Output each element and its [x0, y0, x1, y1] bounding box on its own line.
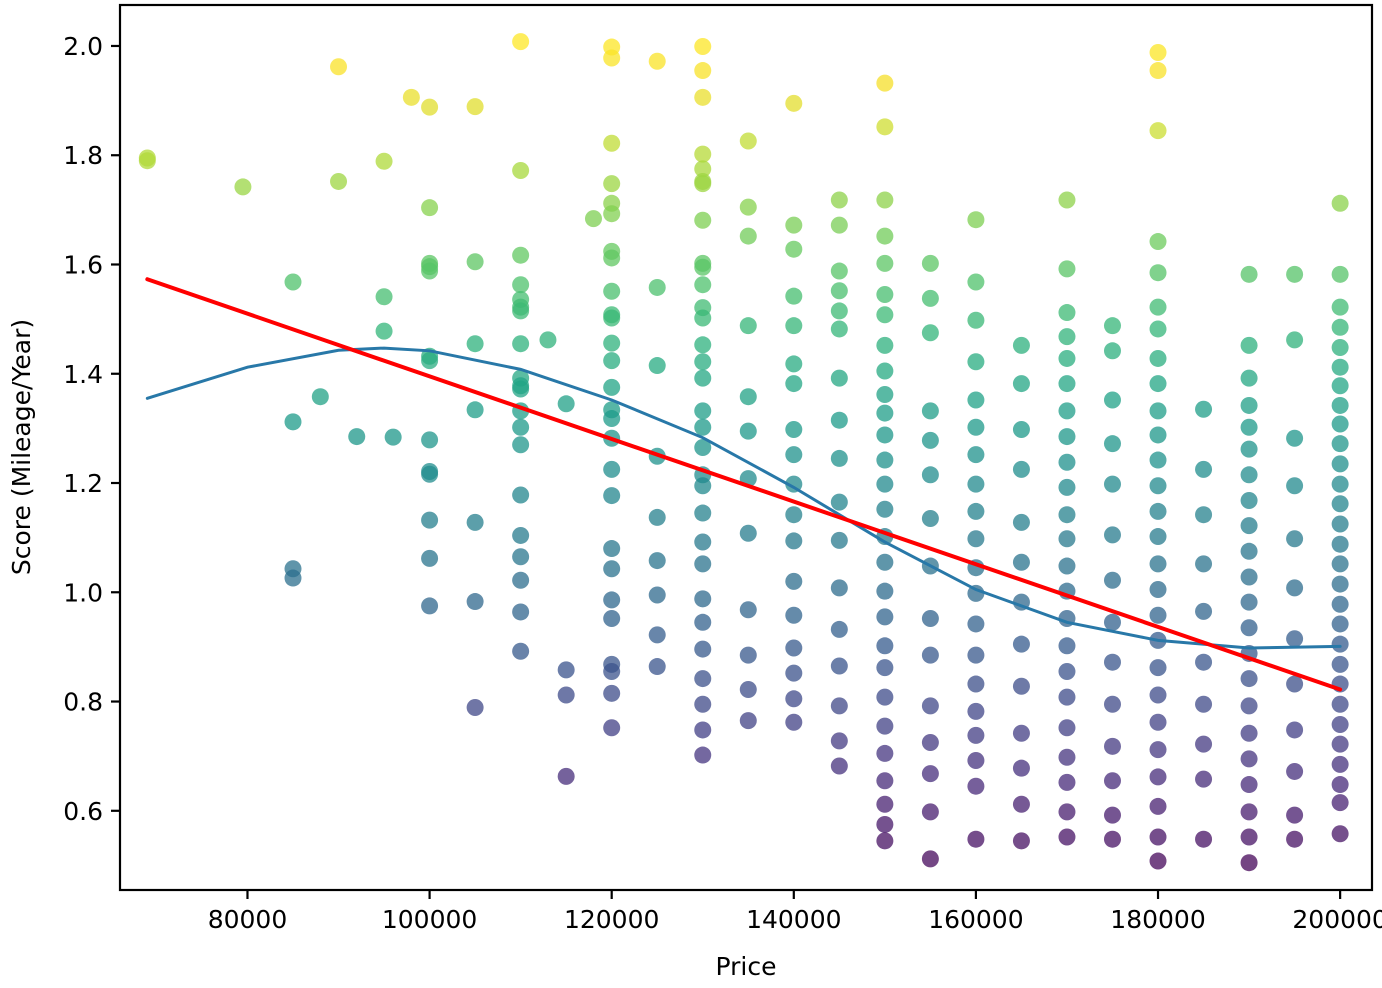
scatter-point	[649, 552, 666, 569]
scatter-point	[740, 681, 757, 698]
scatter-point	[1241, 568, 1258, 585]
scatter-point	[1286, 579, 1303, 596]
scatter-point	[1195, 461, 1212, 478]
y-tick-label: 0.6	[63, 797, 103, 826]
scatter-point	[649, 279, 666, 296]
scatter-point	[1332, 756, 1349, 773]
scatter-point	[1150, 44, 1167, 61]
scatter-point	[1241, 517, 1258, 534]
scatter-point	[603, 379, 620, 396]
scatter-point	[694, 175, 711, 192]
scatter-point	[603, 310, 620, 327]
scatter-point	[922, 324, 939, 341]
scatter-point	[876, 405, 893, 422]
scatter-point	[1241, 266, 1258, 283]
y-tick-label: 0.8	[63, 688, 103, 717]
scatter-point	[740, 423, 757, 440]
scatter-point	[1013, 554, 1030, 571]
scatter-point	[1104, 435, 1121, 452]
scatter-point	[1332, 515, 1349, 532]
y-tick-label: 2.0	[63, 32, 103, 61]
scatter-point	[831, 282, 848, 299]
scatter-point	[1241, 441, 1258, 458]
scatter-point	[831, 263, 848, 280]
scatter-point	[649, 658, 666, 675]
scatter-point	[694, 696, 711, 713]
scatter-point	[694, 534, 711, 551]
scatter-point	[1332, 377, 1349, 394]
scatter-point	[512, 247, 529, 264]
scatter-point	[1150, 375, 1167, 392]
scatter-point	[603, 461, 620, 478]
scatter-point	[1058, 350, 1075, 367]
scatter-point	[1286, 676, 1303, 693]
scatter-point	[876, 796, 893, 813]
scatter-point	[1150, 264, 1167, 281]
scatter-point	[831, 757, 848, 774]
scatter-point	[876, 192, 893, 209]
scatter-point	[603, 352, 620, 369]
scatter-point	[512, 548, 529, 565]
scatter-point	[785, 506, 802, 523]
scatter-point	[649, 53, 666, 70]
scatter-point	[694, 212, 711, 229]
scatter-point	[876, 476, 893, 493]
scatter-point	[831, 450, 848, 467]
x-axis-title: Price	[716, 952, 777, 981]
scatter-point	[1058, 774, 1075, 791]
scatter-point	[603, 663, 620, 680]
scatter-point	[1058, 829, 1075, 846]
scatter-point	[785, 714, 802, 731]
scatter-point	[1332, 319, 1349, 336]
scatter-point	[967, 647, 984, 664]
scatter-point	[876, 118, 893, 135]
scatter-point	[1104, 738, 1121, 755]
scatter-point	[694, 370, 711, 387]
scatter-point	[1241, 829, 1258, 846]
scatter-point	[603, 335, 620, 352]
scatter-point	[740, 388, 757, 405]
scatter-point	[1058, 304, 1075, 321]
scatter-point	[876, 228, 893, 245]
scatter-point	[967, 703, 984, 720]
scatter-point	[876, 583, 893, 600]
scatter-point	[876, 718, 893, 735]
scatter-point	[694, 276, 711, 293]
scatter-point	[603, 283, 620, 300]
scatter-point	[1150, 320, 1167, 337]
scatter-point	[694, 336, 711, 353]
scatter-point	[740, 525, 757, 542]
scatter-point	[785, 665, 802, 682]
scatter-point	[421, 99, 438, 116]
scatter-point	[967, 530, 984, 547]
scatter-point	[285, 273, 302, 290]
scatter-point	[876, 832, 893, 849]
scatter-point	[421, 597, 438, 614]
scatter-point	[922, 255, 939, 272]
scatter-point	[740, 133, 757, 150]
scatter-point	[694, 641, 711, 658]
scatter-point	[876, 255, 893, 272]
scatter-point	[421, 431, 438, 448]
scatter-point	[694, 38, 711, 55]
scatter-point	[603, 487, 620, 504]
scatter-point	[1013, 832, 1030, 849]
scatter-point	[831, 621, 848, 638]
scatter-point	[740, 199, 757, 216]
scatter-point	[876, 689, 893, 706]
scatter-point	[1150, 426, 1167, 443]
scatter-point	[876, 286, 893, 303]
scatter-point	[1150, 555, 1167, 572]
scatter-point	[1332, 776, 1349, 793]
scatter-point	[421, 550, 438, 567]
scatter-point	[421, 263, 438, 280]
scatter-point	[922, 697, 939, 714]
scatter-point	[403, 89, 420, 106]
scatter-point	[1286, 630, 1303, 647]
scatter-point	[922, 402, 939, 419]
scatter-point	[1058, 192, 1075, 209]
y-tick-label: 1.8	[63, 141, 103, 170]
scatter-point	[1058, 428, 1075, 445]
scatter-point	[1332, 615, 1349, 632]
scatter-point	[385, 429, 402, 446]
scatter-plot-canvas: 8000010000012000014000016000018000020000…	[0, 0, 1382, 988]
scatter-point	[1195, 771, 1212, 788]
scatter-point	[1286, 331, 1303, 348]
scatter-point	[831, 697, 848, 714]
scatter-point	[831, 412, 848, 429]
scatter-point	[1332, 696, 1349, 713]
y-tick-label: 1.4	[63, 360, 103, 389]
scatter-point	[876, 816, 893, 833]
scatter-point	[1150, 714, 1167, 731]
scatter-point	[376, 323, 393, 340]
scatter-point	[967, 273, 984, 290]
scatter-point	[740, 712, 757, 729]
scatter-point	[922, 466, 939, 483]
scatter-point	[831, 320, 848, 337]
scatter-point	[1058, 689, 1075, 706]
scatter-point	[1332, 455, 1349, 472]
scatter-point	[876, 386, 893, 403]
scatter-point	[1013, 760, 1030, 777]
scatter-point	[1058, 558, 1075, 575]
x-tick-label: 140000	[746, 905, 841, 934]
scatter-point	[1286, 477, 1303, 494]
scatter-point	[1058, 530, 1075, 547]
scatter-point	[1104, 772, 1121, 789]
scatter-point	[1332, 476, 1349, 493]
scatter-point	[876, 426, 893, 443]
scatter-point	[467, 699, 484, 716]
scatter-point	[1241, 854, 1258, 871]
scatter-point	[1332, 716, 1349, 733]
scatter-point	[967, 778, 984, 795]
scatter-point	[467, 253, 484, 270]
scatter-point	[694, 419, 711, 436]
scatter-point	[1104, 476, 1121, 493]
scatter-point	[694, 505, 711, 522]
scatter-point	[603, 410, 620, 427]
scatter-point	[1104, 391, 1121, 408]
scatter-point	[1104, 572, 1121, 589]
scatter-point	[876, 452, 893, 469]
scatter-point	[649, 587, 666, 604]
scatter-point	[1195, 603, 1212, 620]
scatter-point	[785, 639, 802, 656]
scatter-point	[1150, 402, 1167, 419]
scatter-point	[831, 192, 848, 209]
scatter-point	[1150, 829, 1167, 846]
scatter-point	[585, 210, 602, 227]
scatter-point	[1241, 803, 1258, 820]
scatter-point	[1150, 853, 1167, 870]
scatter-point	[1286, 807, 1303, 824]
scatter-point	[1150, 659, 1167, 676]
scatter-point	[1058, 803, 1075, 820]
scatter-point	[649, 357, 666, 374]
scatter-point	[1058, 260, 1075, 277]
scatter-point	[467, 514, 484, 531]
scatter-point	[876, 745, 893, 762]
scatter-point	[785, 317, 802, 334]
scatter-point	[1150, 686, 1167, 703]
scatter-point	[467, 335, 484, 352]
scatter-point	[967, 446, 984, 463]
scatter-point	[1150, 503, 1167, 520]
scatter-point	[1195, 401, 1212, 418]
scatter-point	[1104, 696, 1121, 713]
scatter-point	[1150, 581, 1167, 598]
x-tick-label: 100000	[382, 905, 477, 934]
scatter-point	[876, 501, 893, 518]
scatter-point	[1241, 492, 1258, 509]
scatter-point	[512, 335, 529, 352]
scatter-point	[785, 375, 802, 392]
y-tick-label: 1.2	[63, 469, 103, 498]
scatter-point	[1241, 725, 1258, 742]
scatter-point	[1332, 656, 1349, 673]
scatter-point	[603, 685, 620, 702]
scatter-point	[603, 560, 620, 577]
scatter-point	[1332, 495, 1349, 512]
scatter-point	[967, 353, 984, 370]
scatter-point	[539, 331, 556, 348]
scatter-point	[967, 615, 984, 632]
scatter-point	[1013, 375, 1030, 392]
scatter-point	[603, 610, 620, 627]
scatter-point	[967, 752, 984, 769]
scatter-point	[1150, 233, 1167, 250]
scatter-point	[603, 49, 620, 66]
scatter-point	[603, 719, 620, 736]
scatter-point	[558, 686, 575, 703]
scatter-point	[1150, 350, 1167, 367]
scatter-point	[421, 199, 438, 216]
scatter-point	[1058, 637, 1075, 654]
scatter-point	[1013, 725, 1030, 742]
scatter-point	[694, 310, 711, 327]
scatter-point	[1332, 195, 1349, 212]
scatter-point	[785, 95, 802, 112]
scatter-point	[1332, 416, 1349, 433]
scatter-point	[1013, 514, 1030, 531]
scatter-point	[831, 658, 848, 675]
scatter-point	[785, 355, 802, 372]
scatter-point	[831, 217, 848, 234]
x-tick-label: 200000	[1292, 905, 1382, 934]
scatter-point	[785, 607, 802, 624]
scatter-point	[1150, 607, 1167, 624]
scatter-point	[512, 436, 529, 453]
scatter-point	[967, 503, 984, 520]
scatter-point	[694, 62, 711, 79]
scatter-point	[1104, 654, 1121, 671]
scatter-point	[785, 288, 802, 305]
scatter-point	[1241, 419, 1258, 436]
scatter-point	[785, 217, 802, 234]
scatter-point	[785, 241, 802, 258]
scatter-point	[139, 149, 156, 166]
scatter-point	[1058, 454, 1075, 471]
scatter-point	[967, 391, 984, 408]
scatter-point	[603, 135, 620, 152]
scatter-point	[1195, 506, 1212, 523]
scatter-point	[1013, 421, 1030, 438]
scatter-point	[694, 146, 711, 163]
scatter-point	[1332, 397, 1349, 414]
scatter-point	[967, 211, 984, 228]
x-tick-label: 180000	[1110, 905, 1205, 934]
scatter-point	[876, 363, 893, 380]
scatter-point	[1286, 763, 1303, 780]
scatter-point	[967, 419, 984, 436]
scatter-point	[558, 395, 575, 412]
scatter-point	[467, 593, 484, 610]
scatter-point	[1058, 402, 1075, 419]
scatter-point	[603, 249, 620, 266]
scatter-point	[512, 302, 529, 319]
scatter-point	[1058, 506, 1075, 523]
scatter-point	[694, 590, 711, 607]
scatter-point	[1150, 528, 1167, 545]
scatter-point	[694, 402, 711, 419]
scatter-point	[1332, 825, 1349, 842]
scatter-point	[512, 603, 529, 620]
scatter-point	[1013, 461, 1030, 478]
scatter-point	[922, 647, 939, 664]
scatter-point	[831, 532, 848, 549]
scatter-point	[694, 747, 711, 764]
scatter-point	[603, 540, 620, 557]
scatter-point	[1332, 266, 1349, 283]
scatter-point	[1241, 776, 1258, 793]
scatter-point	[785, 573, 802, 590]
scatter-point	[1150, 768, 1167, 785]
scatter-point	[1286, 266, 1303, 283]
scatter-point	[922, 510, 939, 527]
y-axis-title: Score (Mileage/Year)	[7, 319, 36, 575]
scatter-point	[1013, 337, 1030, 354]
scatter-point	[694, 670, 711, 687]
scatter-point	[1013, 678, 1030, 695]
scatter-point	[1332, 299, 1349, 316]
scatter-point	[1058, 719, 1075, 736]
scatter-point	[740, 228, 757, 245]
scatter-point	[876, 337, 893, 354]
scatter-point	[1058, 328, 1075, 345]
x-tick-label: 80000	[208, 905, 288, 934]
scatter-point	[1195, 654, 1212, 671]
x-tick-label: 120000	[564, 905, 659, 934]
scatter-point	[967, 831, 984, 848]
scatter-point	[512, 527, 529, 544]
scatter-point	[1241, 619, 1258, 636]
scatter-point	[1241, 397, 1258, 414]
scatter-point	[421, 352, 438, 369]
scatter-point	[922, 803, 939, 820]
scatter-point	[967, 476, 984, 493]
scatter-point	[512, 643, 529, 660]
scatter-point	[512, 419, 529, 436]
scatter-point	[1195, 555, 1212, 572]
scatter-point	[1332, 576, 1349, 593]
scatter-point	[831, 370, 848, 387]
scatter-point	[558, 768, 575, 785]
scatter-point	[876, 659, 893, 676]
scatter-point	[467, 98, 484, 115]
scatter-point	[1104, 342, 1121, 359]
scatter-point	[1332, 435, 1349, 452]
scatter-point	[1286, 430, 1303, 447]
scatter-point	[1104, 614, 1121, 631]
scatter-point	[1332, 736, 1349, 753]
scatter-point	[922, 610, 939, 627]
scatter-point	[1241, 697, 1258, 714]
x-axis-ticks: 8000010000012000014000016000018000020000…	[208, 890, 1382, 934]
scatter-point	[922, 734, 939, 751]
scatter-point	[330, 173, 347, 190]
scatter-point	[512, 276, 529, 293]
scatter-point	[376, 288, 393, 305]
scatter-point	[1104, 831, 1121, 848]
scatter-point	[922, 290, 939, 307]
scatter-point	[694, 353, 711, 370]
scatter-point	[694, 614, 711, 631]
scatter-point	[1150, 62, 1167, 79]
y-tick-label: 1.0	[63, 578, 103, 607]
scatter-point	[421, 466, 438, 483]
scatter-point	[1058, 479, 1075, 496]
scatter-point	[967, 676, 984, 693]
scatter-point	[1286, 530, 1303, 547]
y-tick-label: 1.6	[63, 250, 103, 279]
scatter-point	[785, 421, 802, 438]
scatter-point	[967, 312, 984, 329]
scatter-point	[330, 58, 347, 75]
scatter-point	[603, 175, 620, 192]
scatter-point	[1286, 721, 1303, 738]
scatter-point	[1241, 466, 1258, 483]
x-tick-label: 160000	[928, 905, 1023, 934]
scatter-point	[785, 532, 802, 549]
scatter-point	[376, 153, 393, 170]
scatter-point	[1104, 526, 1121, 543]
